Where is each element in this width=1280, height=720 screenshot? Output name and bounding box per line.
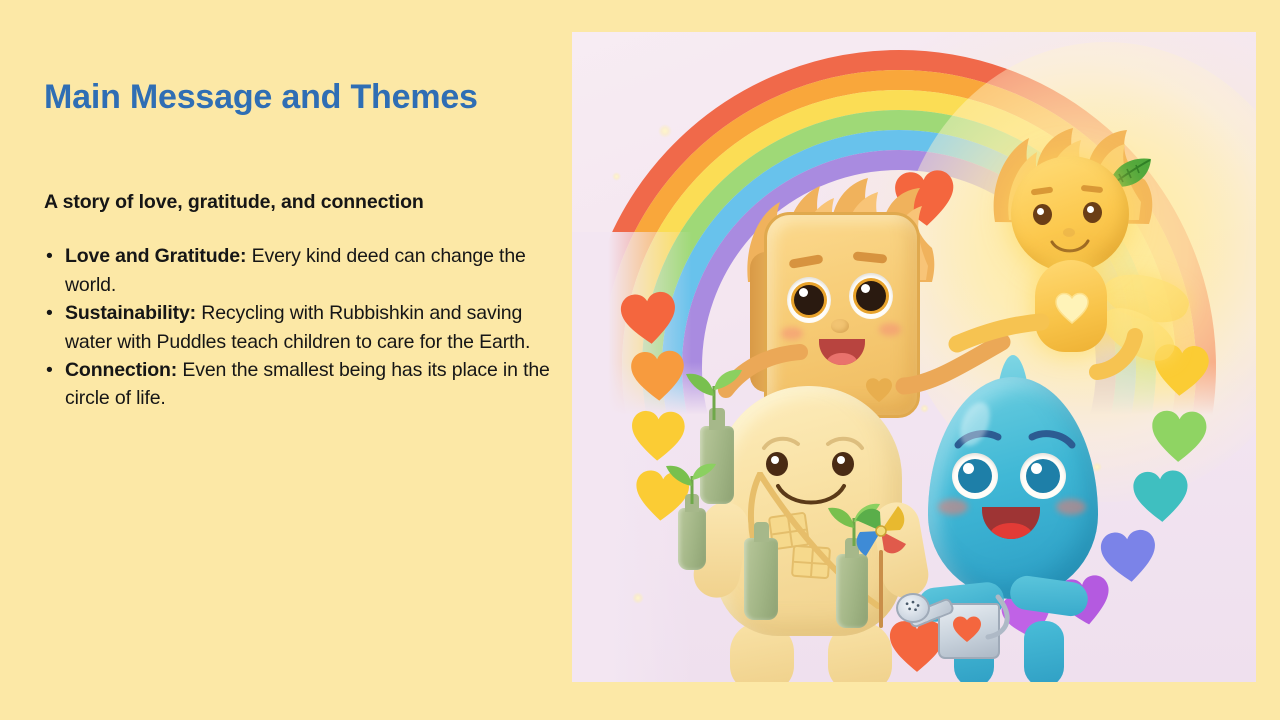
fairy-eye-right: [1083, 202, 1102, 223]
toast-eye-right: [849, 273, 893, 319]
bullet-marker-icon: •: [46, 356, 53, 384]
fairy-chest-heart-icon: [1055, 292, 1089, 324]
subtitle: A story of love, gratitude, and connecti…: [44, 191, 554, 214]
page-title: Main Message and Themes: [44, 78, 554, 117]
toast-eyebrow-left: [788, 254, 823, 269]
water-droplet-puddles: [902, 377, 1122, 682]
droplet-body: [928, 377, 1098, 599]
heart-left-red-icon: [617, 289, 680, 348]
slide-canvas: Main Message and Themes A story of love,…: [0, 0, 1280, 720]
fairy-nose: [1063, 228, 1075, 237]
rubbishkin-eyebrows: [758, 432, 868, 454]
heart-left-orange-icon: [629, 349, 688, 404]
bullet-list: • Love and Gratitude: Every kind deed ca…: [44, 242, 554, 413]
sparkle-icon: [612, 172, 621, 181]
list-item: • Love and Gratitude: Every kind deed ca…: [44, 242, 554, 299]
fairy-eyebrow-left: [1031, 186, 1054, 195]
illustration-image: [572, 32, 1256, 682]
list-item-lead: Sustainability:: [65, 302, 196, 324]
heart-left-yellow-1-icon: [629, 409, 687, 463]
list-item: • Sustainability: Recycling with Rubbish…: [44, 299, 554, 356]
heart-right-teal-icon: [1131, 469, 1192, 525]
bullet-marker-icon: •: [46, 242, 53, 270]
droplet-eye-left: [952, 453, 998, 499]
sprout-icon: [680, 368, 750, 422]
heart-right-green-icon: [1149, 409, 1209, 464]
watering-can-handle: [984, 593, 1020, 641]
watering-can-rose: [896, 593, 930, 623]
fairy-head: [1011, 156, 1129, 272]
sprout-icon: [662, 462, 722, 506]
sparkle-icon: [658, 124, 672, 138]
fairy-mouth: [1049, 238, 1091, 258]
fairy-eye-left: [1033, 204, 1052, 225]
fairy-eyebrow-right: [1081, 185, 1104, 193]
list-item: • Connection: Even the smallest being ha…: [44, 356, 554, 413]
toast-eye-left: [787, 277, 831, 323]
list-item-lead: Love and Gratitude:: [65, 245, 246, 267]
bullet-marker-icon: •: [46, 299, 53, 327]
fairy-character: [957, 110, 1187, 410]
toast-eyebrow-right: [853, 251, 888, 264]
toast-nose: [831, 319, 849, 333]
droplet-arm-right: [1008, 574, 1090, 619]
text-content-column: Main Message and Themes A story of love,…: [44, 78, 554, 413]
list-item-lead: Connection:: [65, 359, 177, 381]
droplet-mouth: [982, 507, 1040, 539]
droplet-eye-right: [1020, 453, 1066, 499]
watering-can-heart-icon: [952, 615, 982, 643]
fairy-arm-left: [941, 298, 1051, 368]
